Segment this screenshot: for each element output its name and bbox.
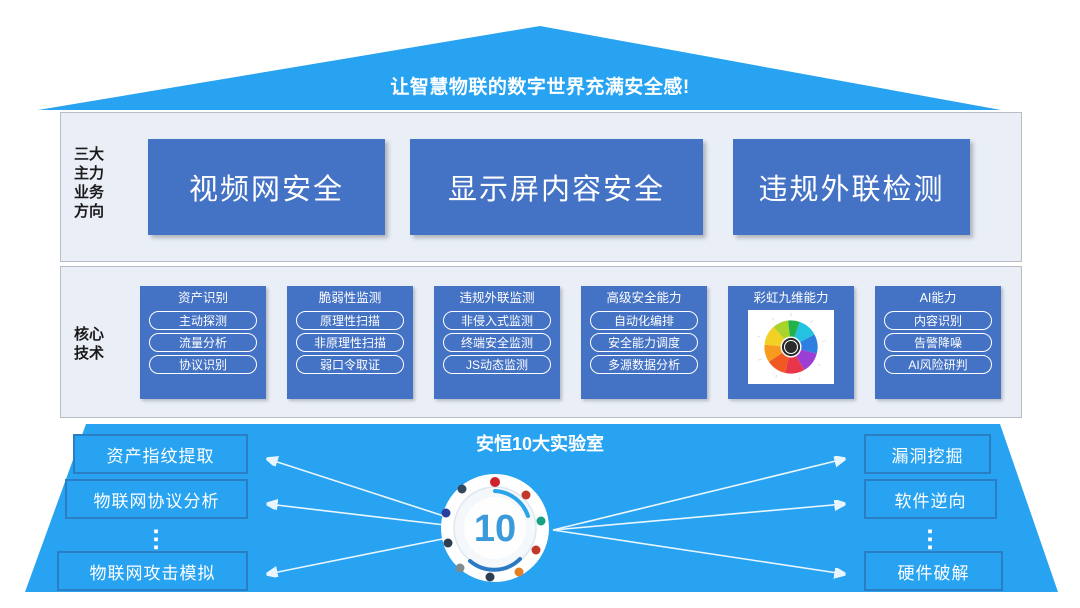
lab-item-iot-protocol-analysis[interactable]: 物联网协议分析 [65,479,248,519]
business-direction-label: 三大 主力 业务 方向 [74,145,134,221]
tech-card-ai-capability[interactable]: AI能力 内容识别 告警降噪 AI风险研判 [875,286,1001,399]
lab-count-number: 10 [474,508,516,550]
tech-item[interactable]: JS动态监测 [443,355,551,374]
infographic-canvas: 让智慧物联的数字世界充满安全感! 三大 主力 业务 方向 视频网安全 显示屏内容… [0,0,1080,608]
tech-card-title: 高级安全能力 [587,290,701,308]
tech-item[interactable]: 流量分析 [149,333,257,352]
tech-item[interactable]: 安全能力调度 [590,333,698,352]
lab-item-vulnerability-mining[interactable]: 漏洞挖掘 [864,434,991,474]
tech-item[interactable]: 内容识别 [884,311,992,330]
lab-item-iot-attack-simulation[interactable]: 物联网攻击模拟 [57,551,248,591]
tech-item[interactable]: 非原理性扫描 [296,333,404,352]
tech-card-advanced-security-capability[interactable]: 高级安全能力 自动化编排 安全能力调度 多源数据分析 [581,286,707,399]
tech-item[interactable]: AI风险研判 [884,355,992,374]
tech-card-title: AI能力 [881,290,995,308]
core-technology-label: 核心 技术 [74,325,134,363]
tech-card-vulnerability-monitoring[interactable]: 脆弱性监测 原理性扫描 非原理性扫描 弱口令取证 [287,286,413,399]
tech-item[interactable]: 多源数据分析 [590,355,698,374]
lab-item-asset-fingerprint-extraction[interactable]: 资产指纹提取 [73,434,248,474]
tech-card-title: 彩虹九维能力 [734,290,848,308]
business-box-illegal-outreach-detection[interactable]: 违规外联检测 [733,139,970,235]
lab-item-software-reverse-engineering[interactable]: 软件逆向 [864,479,997,519]
tech-item[interactable]: 自动化编排 [590,311,698,330]
tech-card-illegal-outreach-monitoring[interactable]: 违规外联监测 非侵入式监测 终端安全监测 JS动态监测 [434,286,560,399]
rainbow-wheel-image [748,310,834,384]
tech-card-asset-identification[interactable]: 资产识别 主动探测 流量分析 协议识别 [140,286,266,399]
rainbow-wheel-icon [756,312,826,382]
lab-item-hardware-cracking[interactable]: 硬件破解 [864,551,1003,591]
roof-slogan: 让智慧物联的数字世界充满安全感! [0,72,1080,99]
tech-item[interactable]: 协议识别 [149,355,257,374]
tech-card-title: 违规外联监测 [440,290,554,308]
right-ellipsis: ▪▪▪ [920,528,940,552]
business-box-video-network-security[interactable]: 视频网安全 [148,139,385,235]
roof-shape [0,26,1080,112]
tech-card-rainbow-nine-dimension[interactable]: 彩虹九维能力 [728,286,854,399]
tech-item[interactable]: 终端安全监测 [443,333,551,352]
tech-item[interactable]: 原理性扫描 [296,311,404,330]
tech-card-title: 脆弱性监测 [293,290,407,308]
left-ellipsis: ▪▪▪ [146,528,166,552]
business-box-display-content-security[interactable]: 显示屏内容安全 [410,139,703,235]
lab-circle-badge: 10 [440,473,550,583]
tech-item[interactable]: 告警降噪 [884,333,992,352]
tech-item[interactable]: 主动探测 [149,311,257,330]
tech-item[interactable]: 弱口令取证 [296,355,404,374]
tech-item[interactable]: 非侵入式监测 [443,311,551,330]
tech-card-title: 资产识别 [146,290,260,308]
